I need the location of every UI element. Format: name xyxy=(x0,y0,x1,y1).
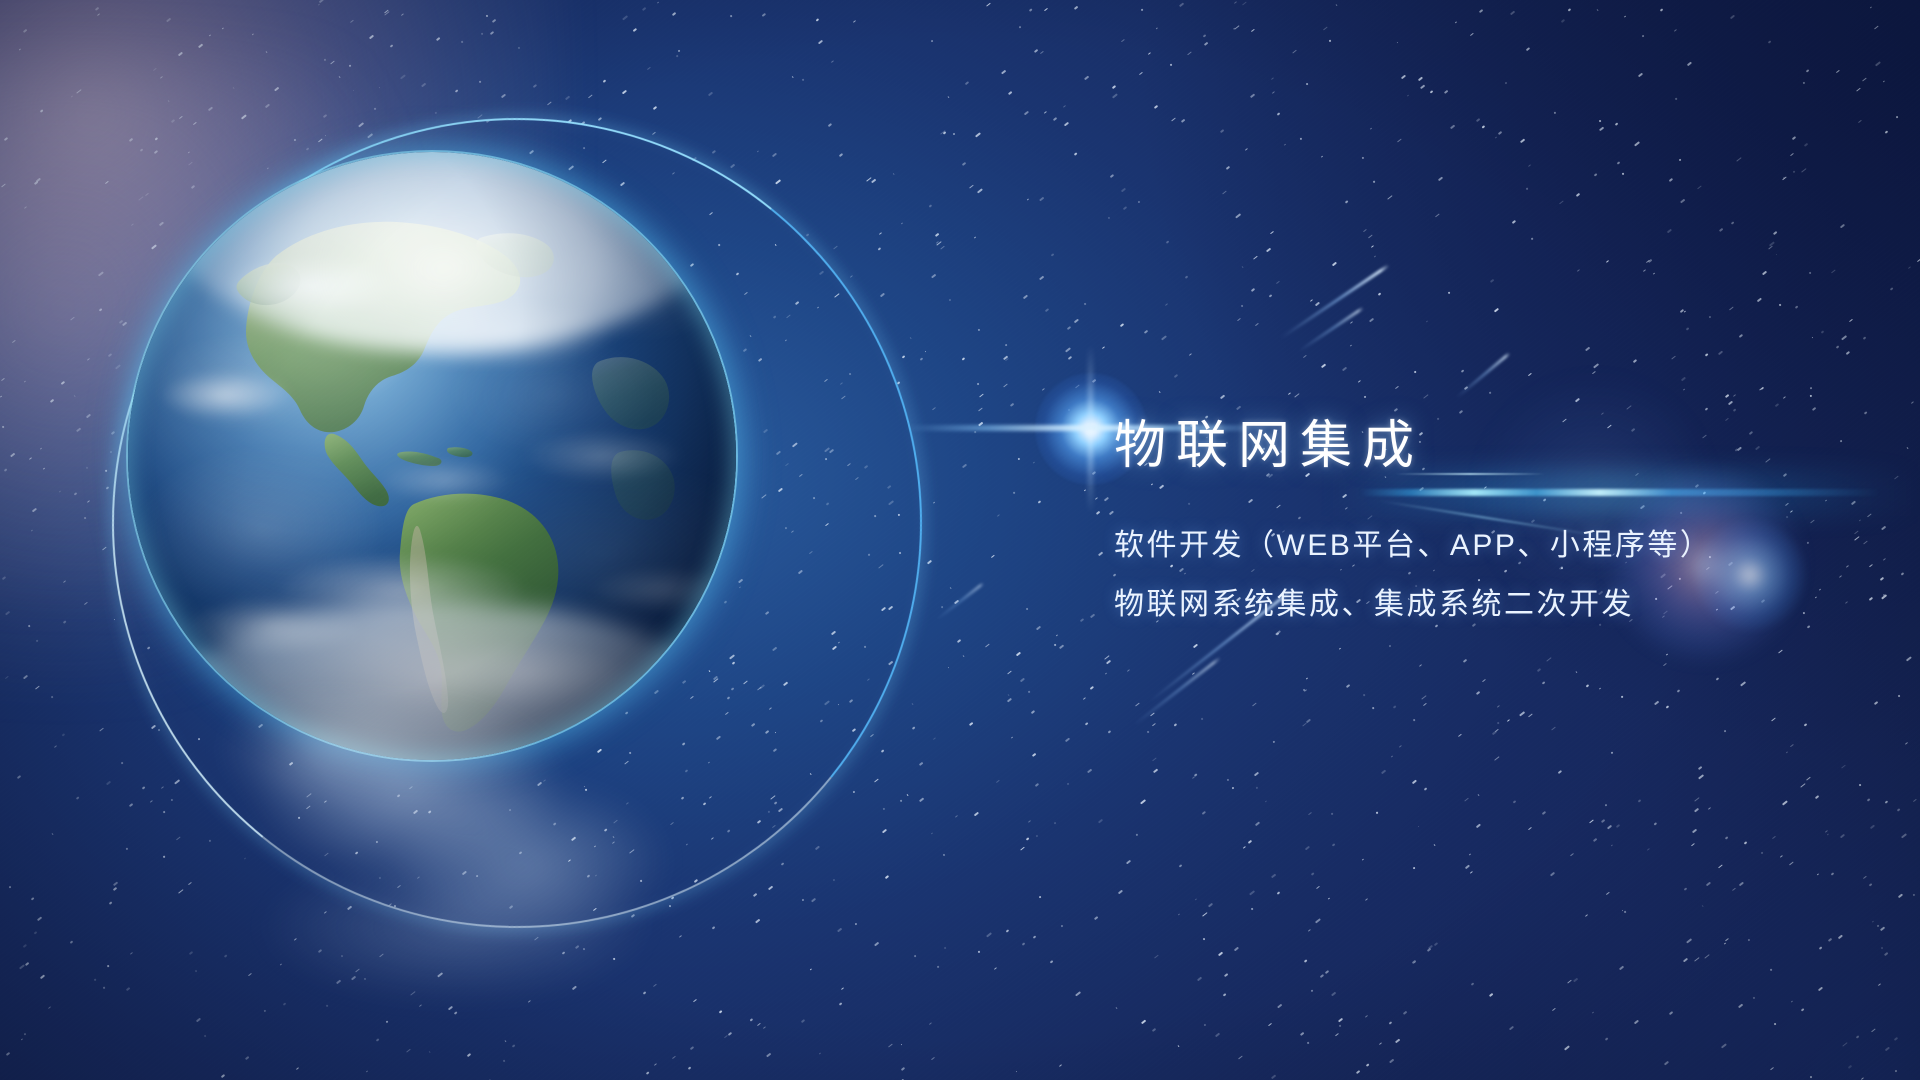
banner-copy: 物联网集成 软件开发（WEB平台、APP、小程序等） 物联网系统集成、集成系统二… xyxy=(1114,420,1834,620)
subtitle-line-2: 物联网系统集成、集成系统二次开发 xyxy=(1114,590,1834,620)
globe-sphere xyxy=(128,152,736,760)
banner-stage: 物联网集成 软件开发（WEB平台、APP、小程序等） 物联网系统集成、集成系统二… xyxy=(0,0,1920,1080)
lens-flare-vertical-streak xyxy=(1088,345,1093,513)
page-title: 物联网集成 xyxy=(1114,420,1834,472)
earth-globe xyxy=(128,152,736,760)
globe-rim-light xyxy=(128,152,736,760)
subtitle-line-1: 软件开发（WEB平台、APP、小程序等） xyxy=(1114,531,1834,561)
